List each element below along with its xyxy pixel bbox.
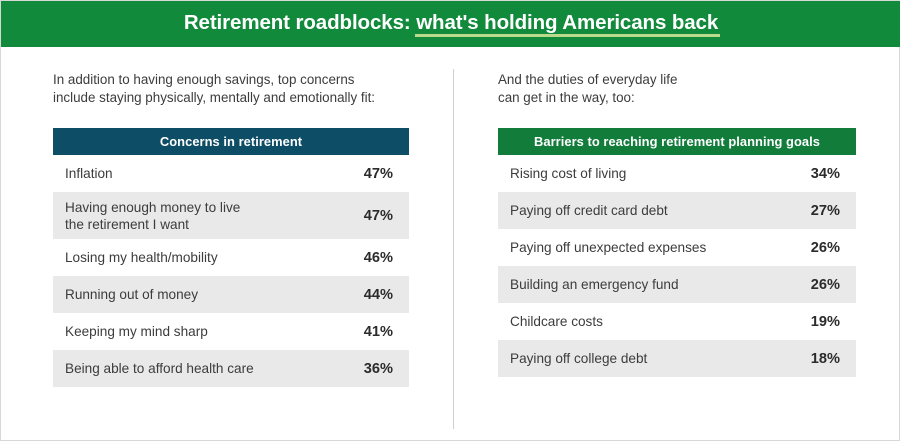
row-label: Paying off credit card debt bbox=[510, 202, 668, 219]
row-value: 26% bbox=[811, 240, 840, 256]
row-label: Paying off college debt bbox=[510, 350, 647, 367]
row-value: 41% bbox=[364, 324, 393, 340]
columns-container: In addition to having enough savings, to… bbox=[1, 47, 900, 442]
row-label: Running out of money bbox=[65, 286, 198, 303]
table-row: Running out of money 44% bbox=[53, 276, 409, 313]
right-intro-text: And the duties of everyday life can get … bbox=[498, 71, 856, 106]
row-value: 47% bbox=[364, 166, 393, 182]
table-row: Building an emergency fund 26% bbox=[498, 266, 856, 303]
row-value: 18% bbox=[811, 351, 840, 367]
table-row: Having enough money to live the retireme… bbox=[53, 192, 409, 239]
row-value: 47% bbox=[364, 208, 393, 224]
left-intro-text: In addition to having enough savings, to… bbox=[53, 71, 409, 106]
row-value: 34% bbox=[811, 166, 840, 182]
table-row: Rising cost of living 34% bbox=[498, 155, 856, 192]
row-label: Keeping my mind sharp bbox=[65, 323, 208, 340]
header-banner: Retirement roadblocks: what's holding Am… bbox=[1, 1, 900, 47]
row-label: Inflation bbox=[65, 165, 113, 182]
row-label: Paying off unexpected expenses bbox=[510, 239, 706, 256]
table-row: Being able to afford health care 36% bbox=[53, 350, 409, 387]
row-value: 27% bbox=[811, 203, 840, 219]
page-title-plain: Retirement roadblocks: bbox=[184, 11, 416, 34]
page-title-underlined: what's holding Americans back bbox=[416, 13, 718, 35]
table-row: Losing my health/mobility 46% bbox=[53, 239, 409, 276]
column-divider bbox=[453, 69, 454, 429]
row-label: Being able to afford health care bbox=[65, 360, 254, 377]
row-label: Building an emergency fund bbox=[510, 276, 679, 293]
row-label: Childcare costs bbox=[510, 313, 603, 330]
table-row: Inflation 47% bbox=[53, 155, 409, 192]
table-row: Keeping my mind sharp 41% bbox=[53, 313, 409, 350]
row-value: 19% bbox=[811, 314, 840, 330]
right-table-header: Barriers to reaching retirement planning… bbox=[498, 128, 856, 155]
left-table-body: Inflation 47% Having enough money to liv… bbox=[53, 155, 409, 387]
row-value: 26% bbox=[811, 277, 840, 293]
table-row: Paying off unexpected expenses 26% bbox=[498, 229, 856, 266]
row-label: Losing my health/mobility bbox=[65, 249, 218, 266]
page-title: Retirement roadblocks: what's holding Am… bbox=[184, 13, 718, 35]
left-table-header: Concerns in retirement bbox=[53, 128, 409, 155]
row-value: 46% bbox=[364, 250, 393, 266]
table-row: Childcare costs 19% bbox=[498, 303, 856, 340]
table-row: Paying off college debt 18% bbox=[498, 340, 856, 377]
row-label: Rising cost of living bbox=[510, 165, 626, 182]
row-value: 36% bbox=[364, 361, 393, 377]
left-column: In addition to having enough savings, to… bbox=[53, 47, 409, 387]
table-row: Paying off credit card debt 27% bbox=[498, 192, 856, 229]
infographic-root: Retirement roadblocks: what's holding Am… bbox=[0, 0, 900, 441]
row-value: 44% bbox=[364, 287, 393, 303]
right-column: And the duties of everyday life can get … bbox=[498, 47, 856, 377]
right-table-body: Rising cost of living 34% Paying off cre… bbox=[498, 155, 856, 377]
row-label: Having enough money to live the retireme… bbox=[65, 199, 240, 233]
